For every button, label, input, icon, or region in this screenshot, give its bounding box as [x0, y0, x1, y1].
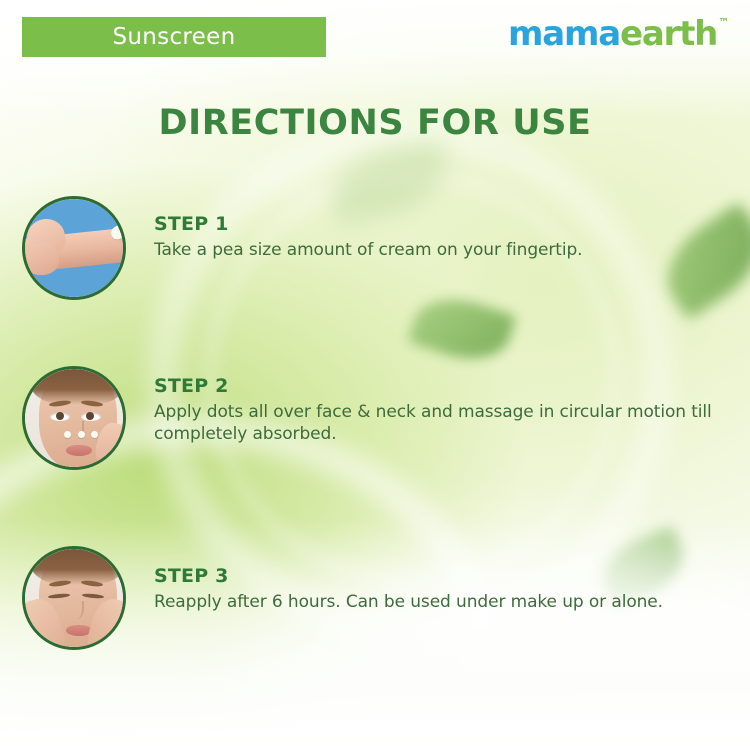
cream-dot-icon — [78, 431, 85, 438]
step-image-circle — [22, 366, 126, 470]
step-text-block: STEP 2 Apply dots all over face & neck a… — [154, 366, 744, 446]
cream-dot-icon — [64, 431, 71, 438]
lips-shape — [66, 445, 92, 456]
step-image-circle — [22, 196, 126, 300]
step-label: STEP 1 — [154, 214, 582, 235]
hair-shape — [31, 369, 123, 405]
hair-shape — [31, 549, 123, 585]
step-text-block: STEP 1 Take a pea size amount of cream o… — [154, 196, 582, 261]
steps-list: STEP 1 Take a pea size amount of cream o… — [0, 0, 750, 749]
step-description: Reapply after 6 hours. Can be used under… — [154, 591, 663, 613]
step-description: Take a pea size amount of cream on your … — [154, 239, 582, 261]
step-item: STEP 1 Take a pea size amount of cream o… — [22, 196, 582, 300]
step-label: STEP 3 — [154, 566, 663, 587]
cream-dot-icon — [91, 431, 98, 438]
step-item: STEP 3 Reapply after 6 hours. Can be use… — [22, 546, 663, 650]
step-text-block: STEP 3 Reapply after 6 hours. Can be use… — [154, 546, 663, 613]
woman-massaging-face-photo — [25, 549, 123, 647]
step-image-circle — [22, 546, 126, 650]
step-item: STEP 2 Apply dots all over face & neck a… — [22, 366, 744, 470]
directions-for-use-poster: Sunscreen mama earth ™ DIRECTIONS FOR US… — [0, 0, 750, 749]
pupil-shape — [86, 412, 94, 420]
pupil-shape — [56, 412, 64, 420]
step-label: STEP 2 — [154, 376, 744, 397]
finger-with-cream-photo — [25, 199, 123, 297]
woman-applying-dots-photo — [25, 369, 123, 467]
step-description: Apply dots all over face & neck and mass… — [154, 401, 744, 446]
cream-dots-group — [64, 431, 98, 438]
